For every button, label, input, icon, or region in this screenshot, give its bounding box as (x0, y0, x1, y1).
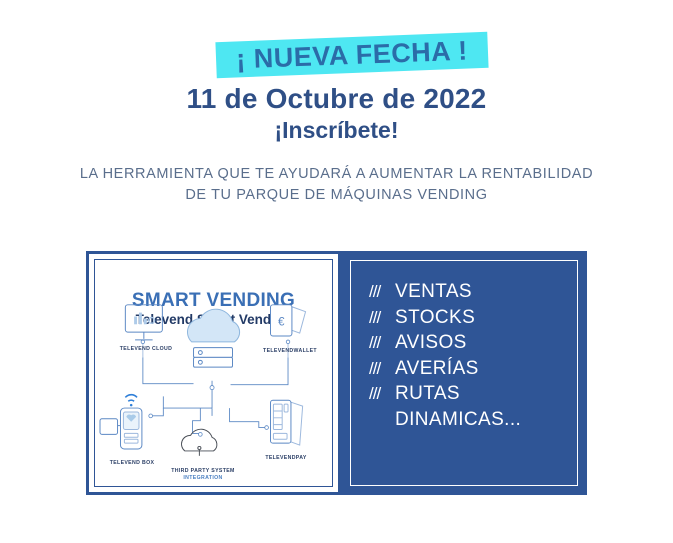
feature-label: RUTAS (395, 383, 460, 404)
event-date: 11 de Octubre de 2022 (0, 83, 673, 115)
feature-item: ///RUTAS (369, 381, 577, 407)
feature-item-continuation: DINAMICAS... (369, 407, 577, 433)
content-panels: SMART VENDING Televend Smart Vending (86, 251, 587, 495)
cloud-icon (187, 309, 239, 342)
features-panel-inner: ///VENTAS ///STOCKS ///AVISOS ///AVERÍAS… (350, 260, 578, 486)
feature-item: ///AVERÍAS (369, 356, 577, 382)
node-label-third-party-line2: INTEGRATION (157, 475, 249, 481)
server-icon (194, 348, 233, 367)
feature-label: AVISOS (395, 332, 467, 353)
node-label-televend-cloud: TELEVEND CLOUD (103, 346, 189, 352)
node-label-televendpay: TELEVENDPAY (247, 455, 325, 461)
node-label-televendwallet: TELEVENDWALLET (247, 348, 333, 354)
feature-label: AVERÍAS (395, 358, 479, 379)
signup-callout: ¡Inscríbete! (0, 117, 673, 144)
node-label-televend-box: TELEVEND BOX (95, 460, 169, 466)
feature-item: ///AVISOS (369, 330, 577, 356)
subheadline-line-2: DE TU PARQUE DE MÁQUINAS VENDING (0, 185, 673, 206)
feature-marker-icon: /// (369, 330, 395, 356)
wallet-euro-icon: € (270, 305, 305, 336)
features-panel: ///VENTAS ///STOCKS ///AVISOS ///AVERÍAS… (341, 251, 587, 495)
diagram-panel: SMART VENDING Televend Smart Vending (86, 251, 341, 495)
vending-box-wifi-icon (100, 395, 142, 449)
feature-label: DINAMICAS... (395, 409, 521, 430)
subheadline: LA HERRAMIENTA QUE TE AYUDARÁ A AUMENTAR… (0, 164, 673, 206)
feature-label: VENTAS (395, 281, 472, 302)
feature-item: ///VENTAS (369, 279, 577, 305)
smart-vending-diagram: € (95, 260, 332, 486)
feature-marker-icon: /// (369, 356, 395, 382)
feature-marker-icon: /// (369, 381, 395, 407)
new-date-banner: ¡ NUEVA FECHA ! (0, 33, 673, 79)
vending-machine-icon (270, 400, 302, 445)
feature-marker-icon: /// (369, 305, 395, 331)
svg-text:€: € (278, 315, 285, 328)
monitor-icon (125, 305, 162, 340)
subheadline-line-1: LA HERRAMIENTA QUE TE AYUDARÁ A AUMENTAR… (0, 164, 673, 185)
node-label-third-party-line1: THIRD PARTY SYSTEM (157, 468, 249, 474)
diagram-panel-inner: SMART VENDING Televend Smart Vending (94, 259, 333, 487)
feature-item: ///STOCKS (369, 305, 577, 331)
feature-marker-icon: /// (369, 279, 395, 305)
banner-label: ¡ NUEVA FECHA ! (215, 32, 488, 78)
feature-label: STOCKS (395, 307, 475, 328)
